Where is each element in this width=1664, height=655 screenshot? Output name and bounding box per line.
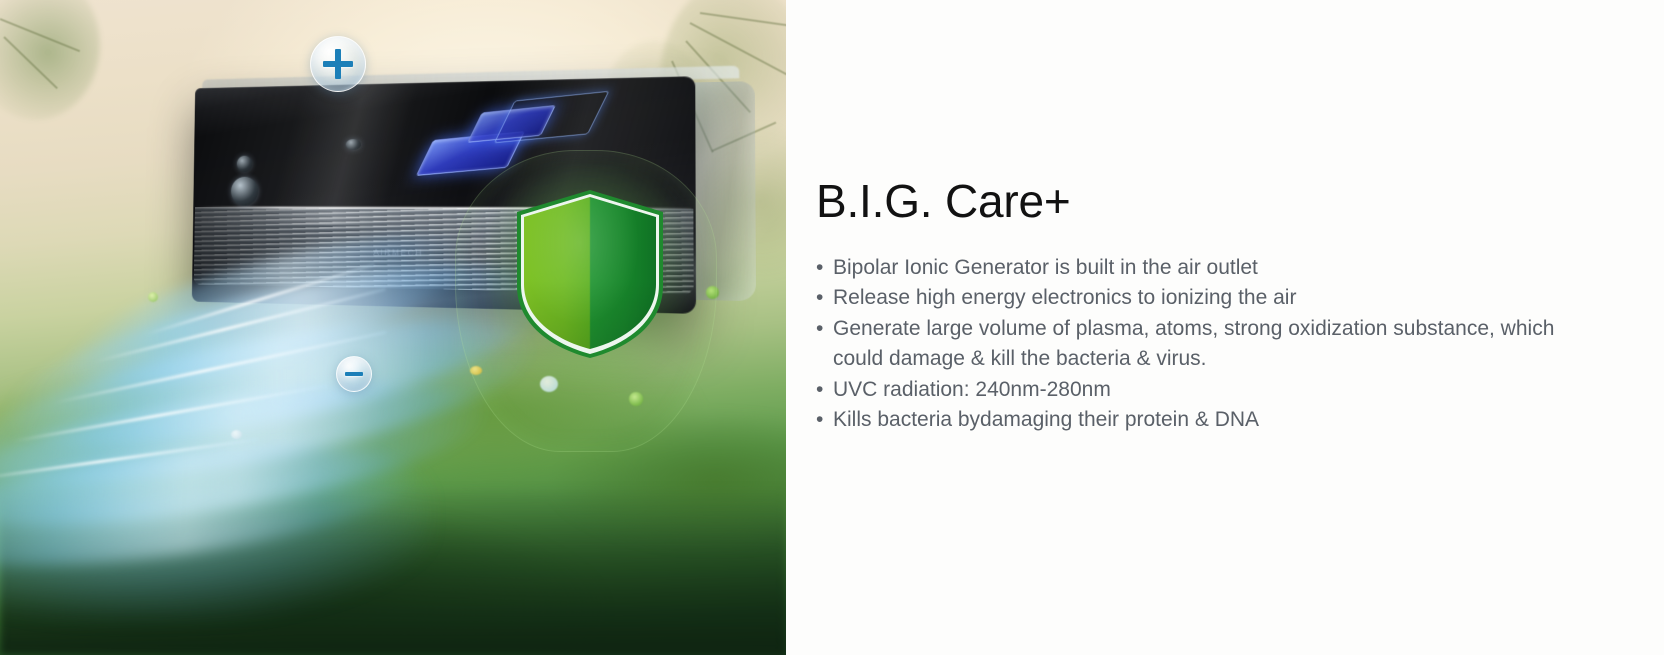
product-info-panel: B.I.G. Care+ Bipolar Ionic Generator is … bbox=[786, 0, 1664, 655]
product-feature-page: AIRMECH bbox=[0, 0, 1664, 655]
list-item: Generate large volume of plasma, atoms, … bbox=[816, 314, 1576, 375]
product-hero-image: AIRMECH bbox=[0, 0, 786, 655]
list-item: Bipolar Ionic Generator is built in the … bbox=[816, 253, 1576, 284]
background-foreground-shadow bbox=[0, 485, 786, 655]
list-item: Kills bacteria bydamaging their protein … bbox=[816, 405, 1576, 436]
negative-ion-badge-icon bbox=[336, 356, 372, 392]
protection-shield-icon bbox=[517, 190, 663, 358]
list-item: UVC radiation: 240nm-280nm bbox=[816, 375, 1576, 406]
feature-list: Bipolar Ionic Generator is built in the … bbox=[816, 253, 1576, 436]
bacteria-icon bbox=[148, 292, 158, 302]
page-title: B.I.G. Care+ bbox=[816, 176, 1604, 227]
plus-icon-vertical-bar bbox=[335, 49, 341, 79]
minus-icon-bar bbox=[345, 372, 363, 376]
bacteria-icon bbox=[231, 430, 242, 439]
list-item: Release high energy electronics to ioniz… bbox=[816, 283, 1576, 314]
positive-ion-badge-icon bbox=[310, 36, 366, 92]
